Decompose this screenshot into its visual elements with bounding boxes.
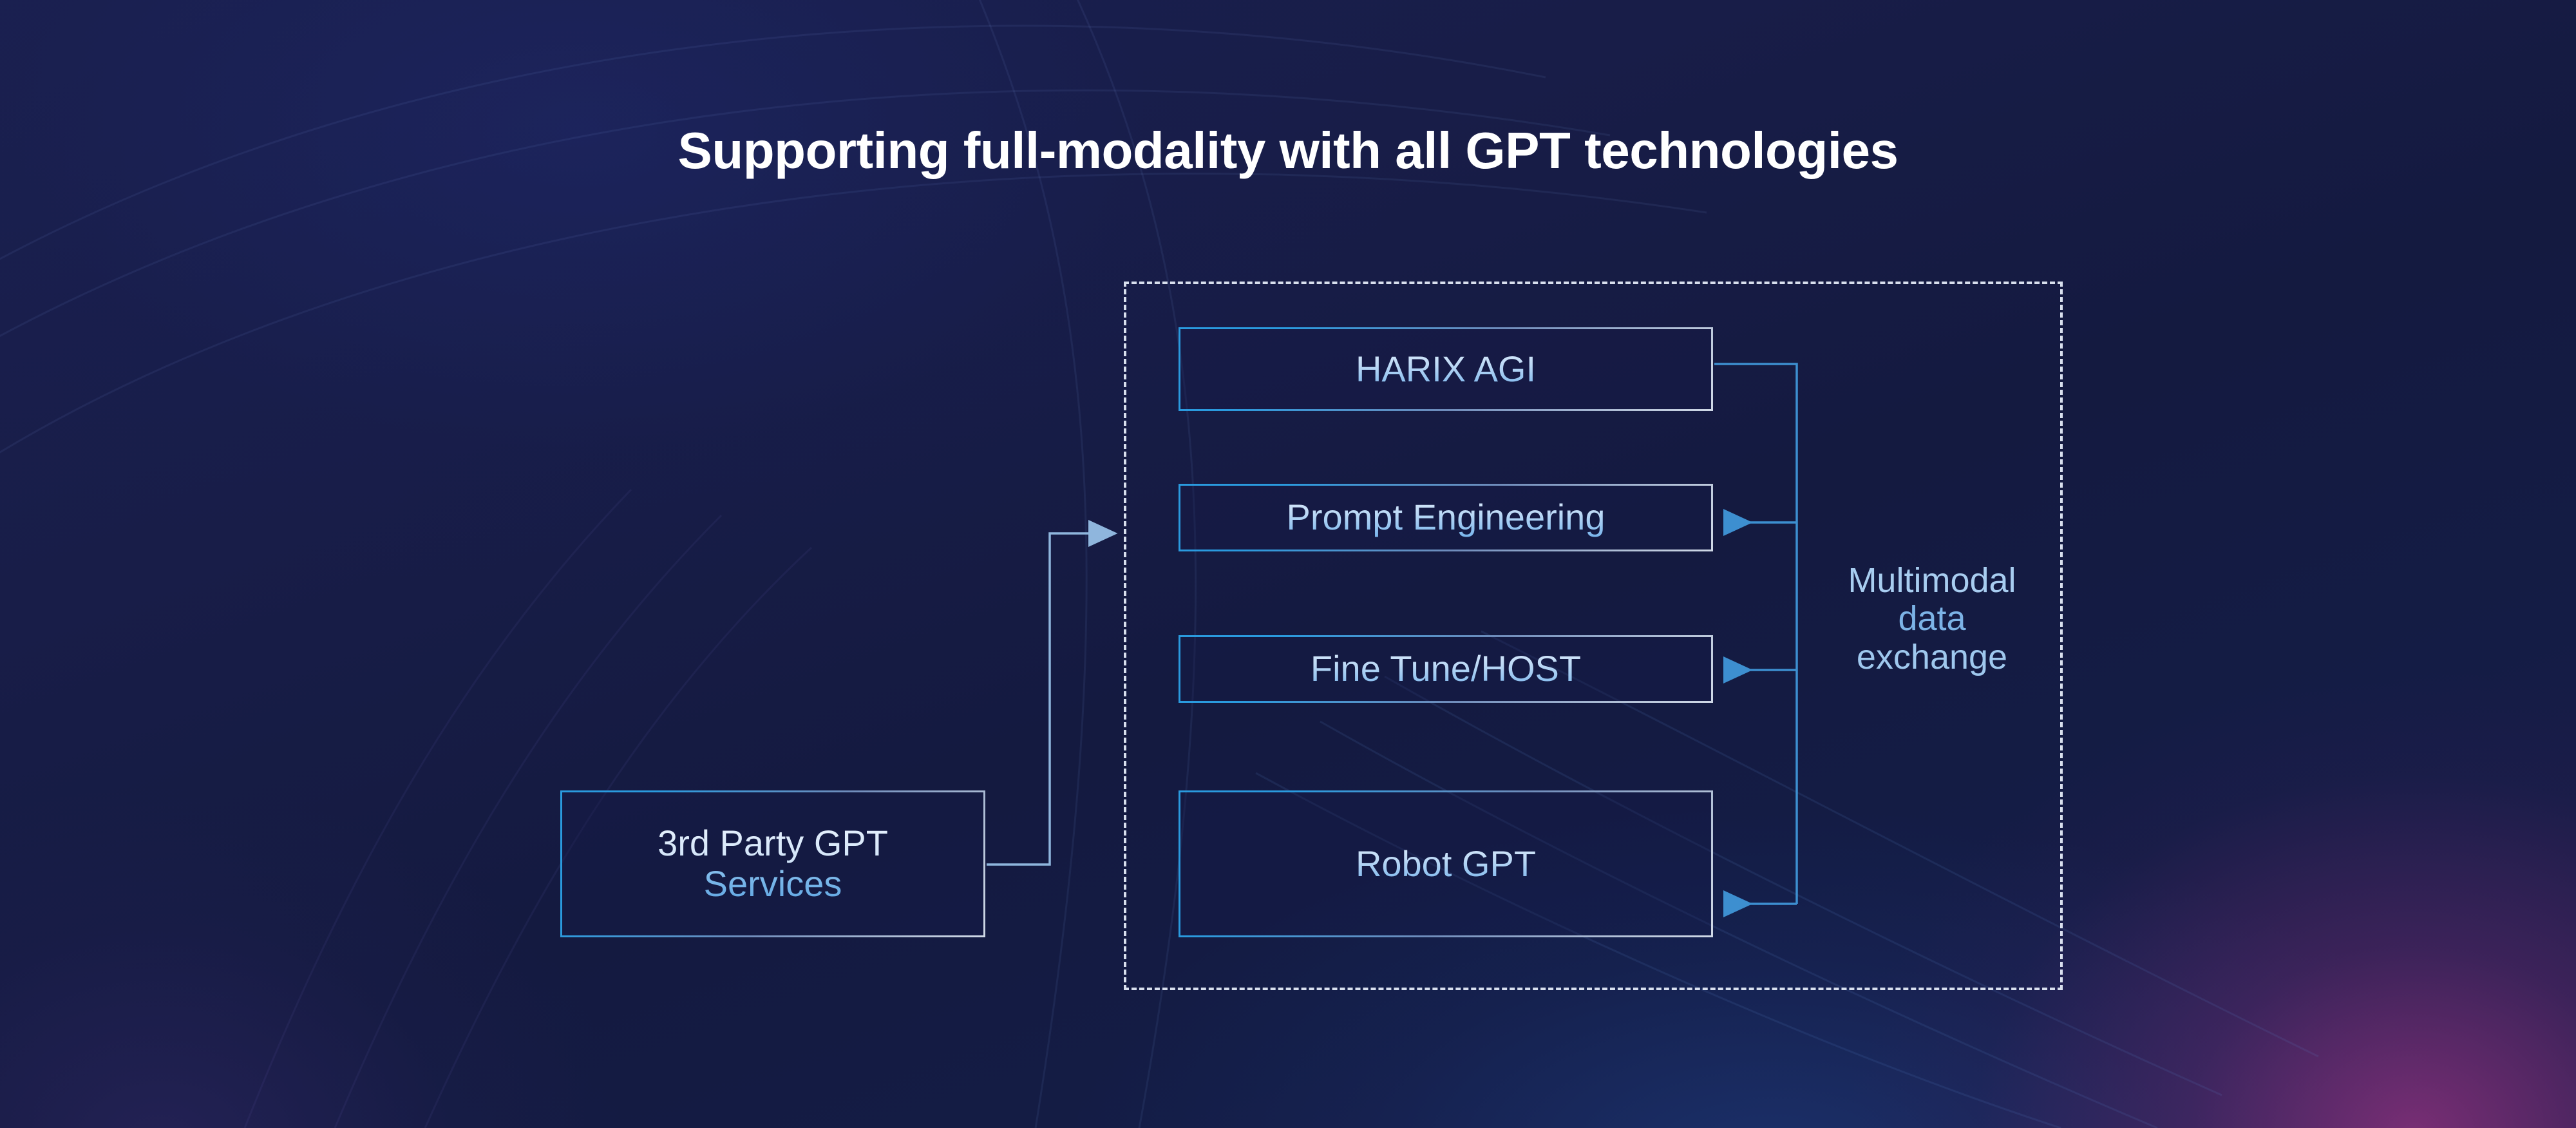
node-robot-gpt[interactable]: Robot GPT: [1179, 790, 1713, 937]
node-harix-agi-label: HARIX AGI: [1356, 349, 1536, 390]
node-fine-tune-host-label: Fine Tune/HOST: [1311, 649, 1581, 689]
page-title: Supporting full-modality with all GPT te…: [0, 121, 2576, 180]
node-prompt-engineering[interactable]: Prompt Engineering: [1179, 484, 1713, 551]
node-fine-tune-host[interactable]: Fine Tune/HOST: [1179, 635, 1713, 703]
node-third-party-gpt-services[interactable]: 3rd Party GPT Services: [560, 790, 985, 937]
node-third-party-line2: Services: [704, 864, 842, 904]
slide-canvas: Supporting full-modality with all GPT te…: [0, 0, 2576, 1128]
multimodal-label-line1: Multimodal: [1803, 562, 2061, 600]
node-prompt-engineering-label: Prompt Engineering: [1287, 497, 1605, 538]
multimodal-label-line3: exchange: [1803, 638, 2061, 676]
multimodal-label-line2: data: [1803, 600, 2061, 638]
multimodal-data-exchange-label: Multimodal data exchange: [1803, 562, 2061, 676]
node-robot-gpt-label: Robot GPT: [1356, 844, 1536, 884]
node-third-party-line1: 3rd Party GPT: [658, 823, 888, 864]
node-harix-agi[interactable]: HARIX AGI: [1179, 327, 1713, 411]
